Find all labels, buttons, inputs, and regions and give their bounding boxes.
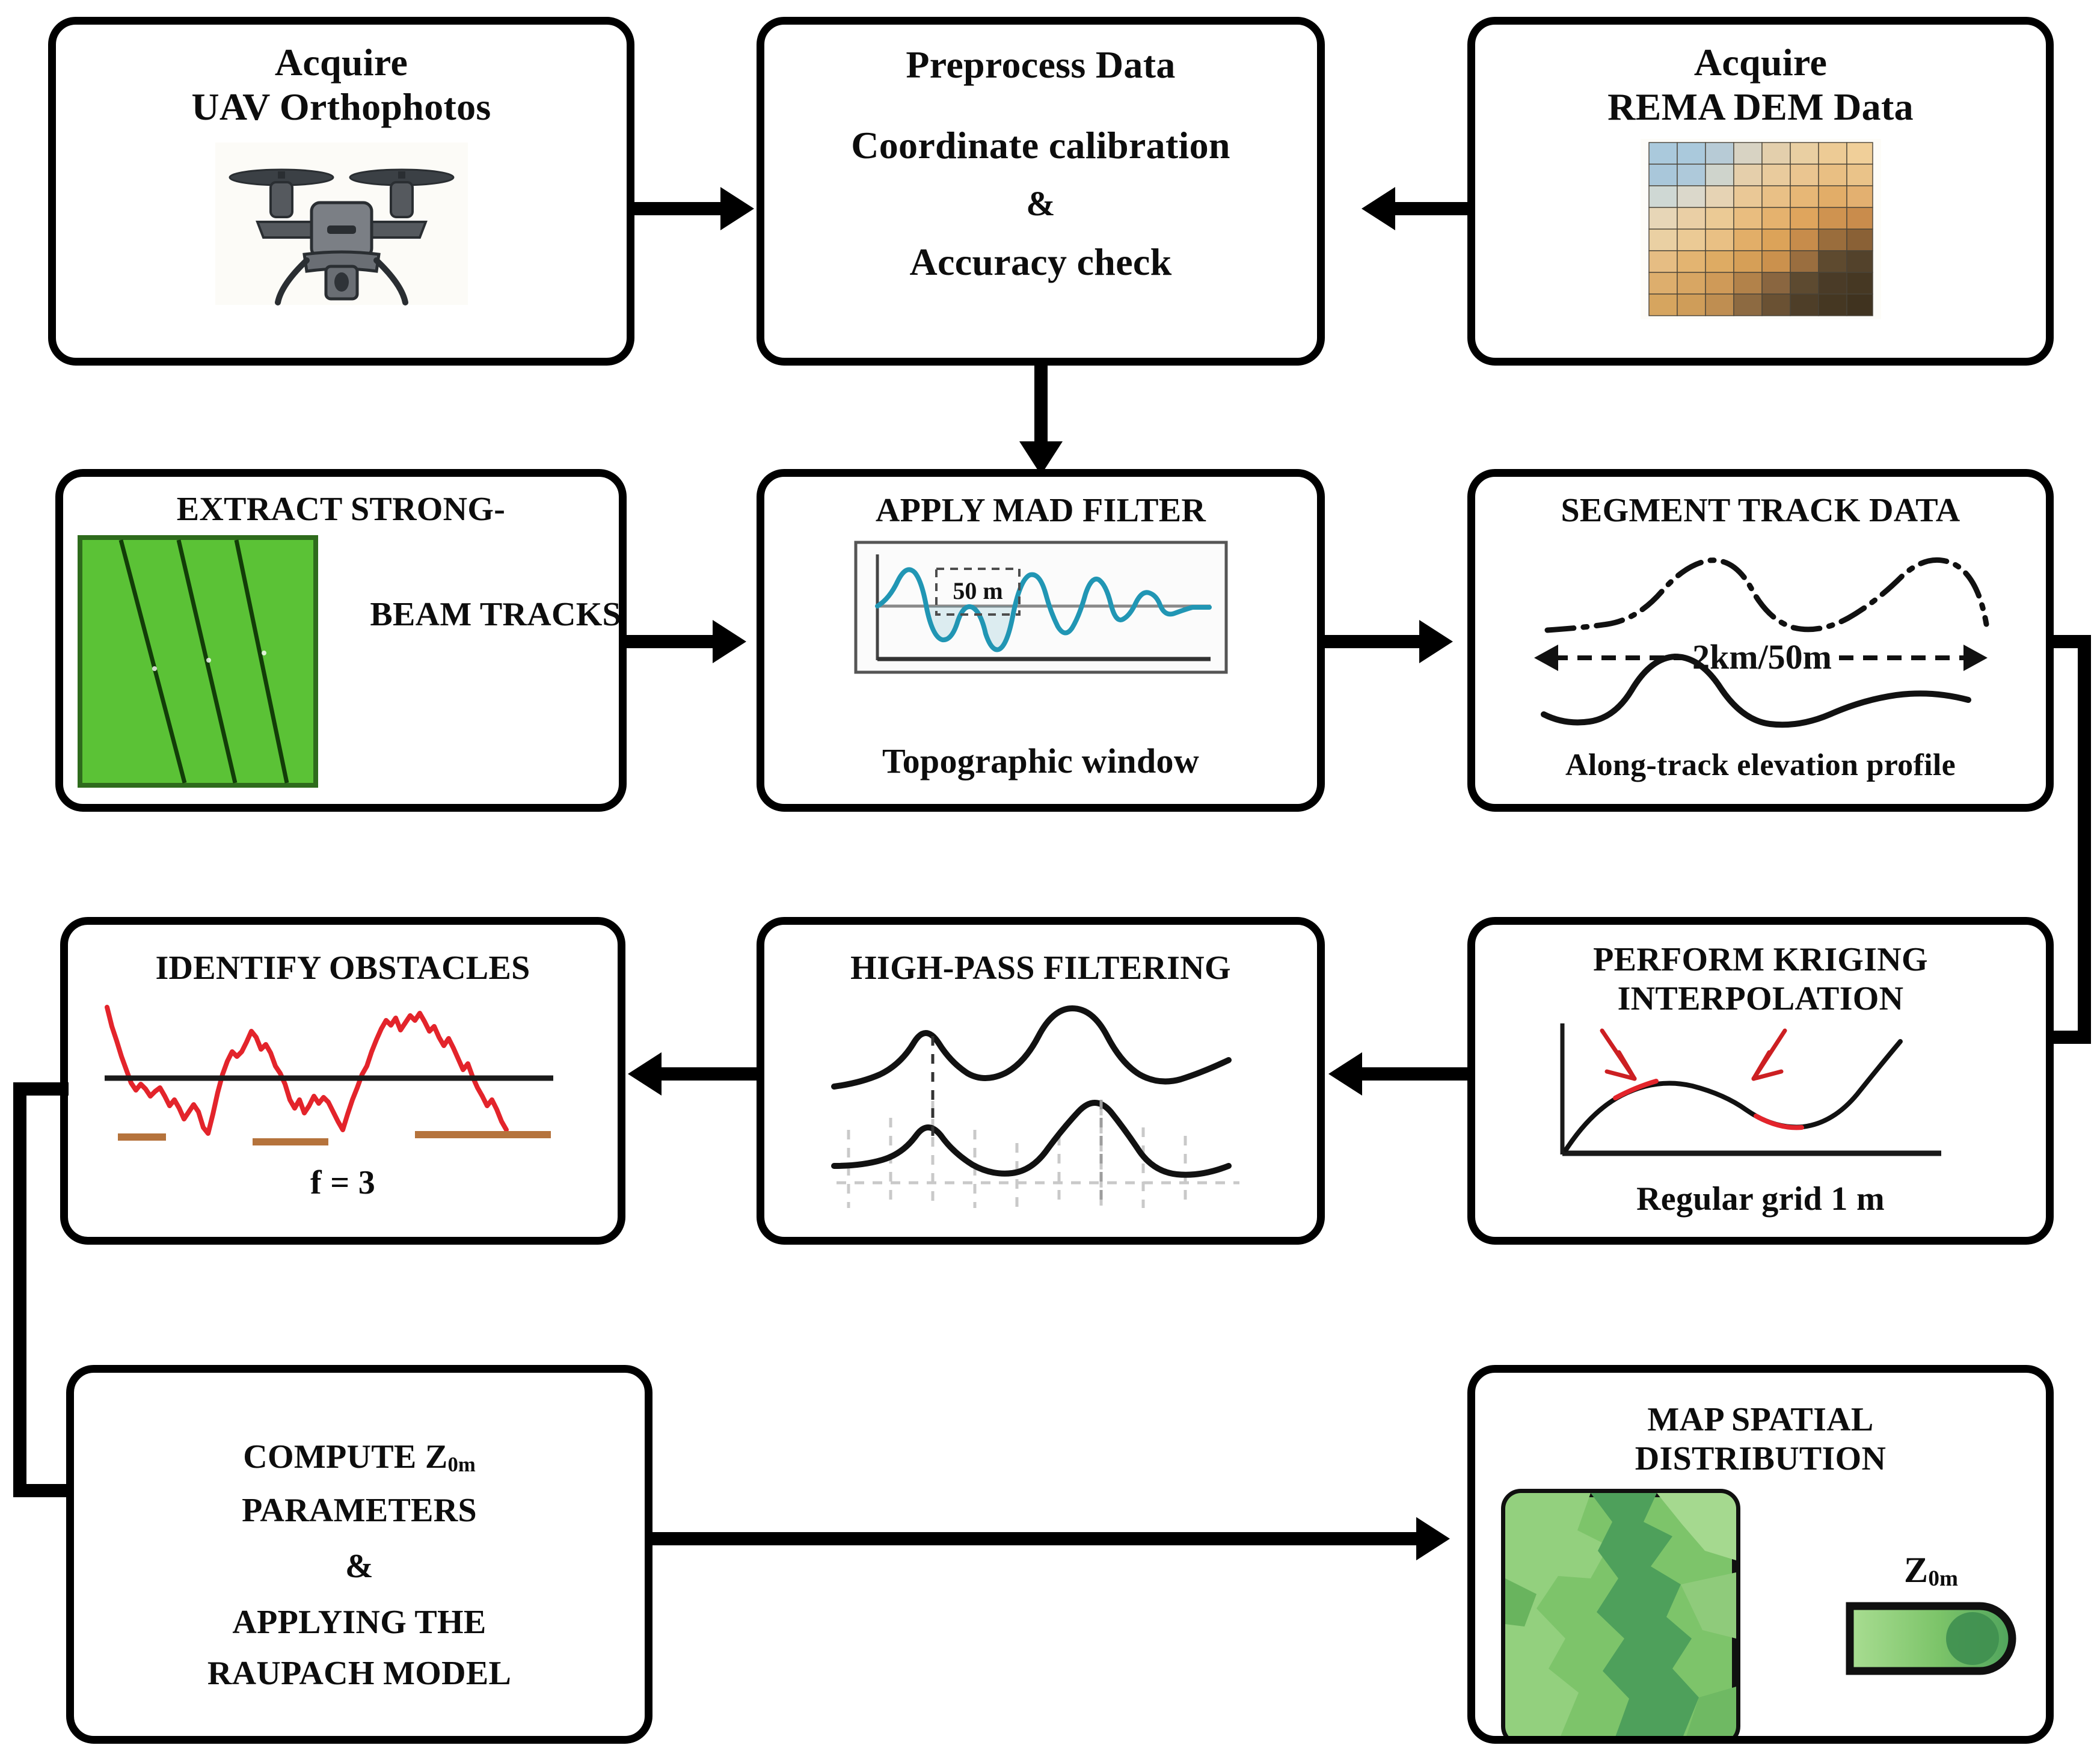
connector-preprocess-to-mad-line <box>1034 366 1048 444</box>
connector-uav-to-preprocess-arrow <box>720 187 754 230</box>
acquire-uav-title: Acquire UAV Orthophotos <box>191 40 491 129</box>
connector-highpass-to-obstacles-arrow <box>628 1052 662 1096</box>
compute-z0m-line1: COMPUTE Z0m <box>243 1438 476 1477</box>
obstacle-signal-icon <box>96 994 589 1162</box>
kriging-caption: Regular grid 1 m <box>1636 1180 1885 1219</box>
preprocess-line1: Coordinate calibration <box>851 123 1230 168</box>
drone-icon <box>215 143 468 305</box>
connector-compute-to-map-arrow <box>1416 1517 1450 1560</box>
preprocess-line2: & <box>1026 183 1055 224</box>
compute-z0m-line2: PARAMETERS <box>242 1491 477 1530</box>
kriging-title: PERFORM KRIGING INTERPOLATION <box>1593 940 1928 1019</box>
elevation-profile-icon: 2km/50m <box>1511 534 2010 732</box>
acquire-rema-title: Acquire REMA DEM Data <box>1607 40 1914 129</box>
compute-z0m-line5: RAUPACH MODEL <box>207 1654 511 1693</box>
identify-obstacles-title: IDENTIFY OBSTACLES <box>155 949 530 988</box>
segment-track-title: SEGMENT TRACK DATA <box>1561 491 1960 530</box>
preprocess-line3: Accuracy check <box>909 240 1171 284</box>
dual-wave-icon <box>824 1016 1257 1214</box>
node-preprocess-data[interactable]: Preprocess Data Coordinate calibration &… <box>757 17 1325 366</box>
node-acquire-rema-dem[interactable]: Acquire REMA DEM Data <box>1467 17 2054 366</box>
preprocess-title: Preprocess Data <box>906 43 1175 87</box>
green-map-icon <box>1500 1488 1741 1744</box>
connector-extract-to-mad-line <box>627 635 714 648</box>
connector-uav-to-preprocess-line <box>634 202 722 215</box>
mad-filter-caption: Topographic window <box>882 741 1199 781</box>
node-identify-obstacles[interactable]: IDENTIFY OBSTACLES f = 3 <box>60 917 625 1245</box>
connector-kriging-to-highpass-line <box>1362 1067 1467 1081</box>
legend-z0m-label: Z0m <box>1844 1550 2018 1592</box>
compute-z0m-line4: APPLYING THE <box>232 1603 486 1642</box>
node-apply-mad-filter[interactable]: APPLY MAD FILTER 50 m Topographic window <box>757 469 1325 812</box>
green-track-swath-icon <box>78 535 318 788</box>
compute-z0m-line3: & <box>345 1547 373 1586</box>
connector-segment-to-kriging-seg-v <box>2078 635 2091 1044</box>
connector-rema-to-preprocess-arrow <box>1362 187 1395 230</box>
map-spatial-title: MAP SPATIAL DISTRIBUTION <box>1475 1400 2046 1479</box>
connector-obstacles-to-compute-seg-v <box>13 1082 26 1497</box>
waveform-icon: 50 m <box>855 541 1227 673</box>
segment-span-label: 2km/50m <box>1692 637 1832 676</box>
connector-kriging-to-highpass-arrow <box>1328 1052 1362 1096</box>
connector-compute-to-map-line <box>652 1532 1419 1545</box>
connector-rema-to-preprocess-line <box>1395 202 1467 215</box>
node-acquire-uav-orthophotos[interactable]: Acquire UAV Orthophotos <box>48 17 634 366</box>
flowchart-canvas: Acquire UAV Orthophotos <box>0 0 2100 1763</box>
extract-tracks-title-line1: EXTRACT STRONG- <box>63 490 619 529</box>
mad-window-label: 50 m <box>953 577 1002 604</box>
dem-grid-icon <box>1641 139 1881 319</box>
kriging-curve-icon <box>1544 1021 1977 1171</box>
segment-track-caption: Along-track elevation profile <box>1565 747 1956 783</box>
connector-extract-to-mad-arrow <box>713 620 746 663</box>
connector-highpass-to-obstacles-line <box>662 1067 757 1081</box>
legend-z0m: Z0m <box>1844 1550 2018 1677</box>
node-map-spatial-distribution[interactable]: MAP SPATIAL DISTRIBUTION <box>1467 1365 2054 1744</box>
node-perform-kriging-interpolation[interactable]: PERFORM KRIGING INTERPOLATION <box>1467 917 2054 1245</box>
node-compute-z0m-parameters[interactable]: COMPUTE Z0m PARAMETERS & APPLYING THE RA… <box>66 1365 652 1744</box>
mad-filter-title: APPLY MAD FILTER <box>876 491 1206 530</box>
connector-mad-to-segment-line <box>1325 635 1421 648</box>
node-segment-track-data[interactable]: SEGMENT TRACK DATA 2km/50m Along-track e… <box>1467 469 2054 812</box>
extract-tracks-title-line2: BEAM TRACKS <box>370 595 621 634</box>
identify-obstacles-threshold: f = 3 <box>310 1164 375 1203</box>
node-high-pass-filtering[interactable]: HIGH-PASS FILTERING <box>757 917 1325 1245</box>
connector-mad-to-segment-arrow <box>1419 620 1453 663</box>
node-extract-strong-beam-tracks[interactable]: EXTRACT STRONG- BEAM TRACKS <box>55 469 627 812</box>
high-pass-title: HIGH-PASS FILTERING <box>850 949 1231 988</box>
